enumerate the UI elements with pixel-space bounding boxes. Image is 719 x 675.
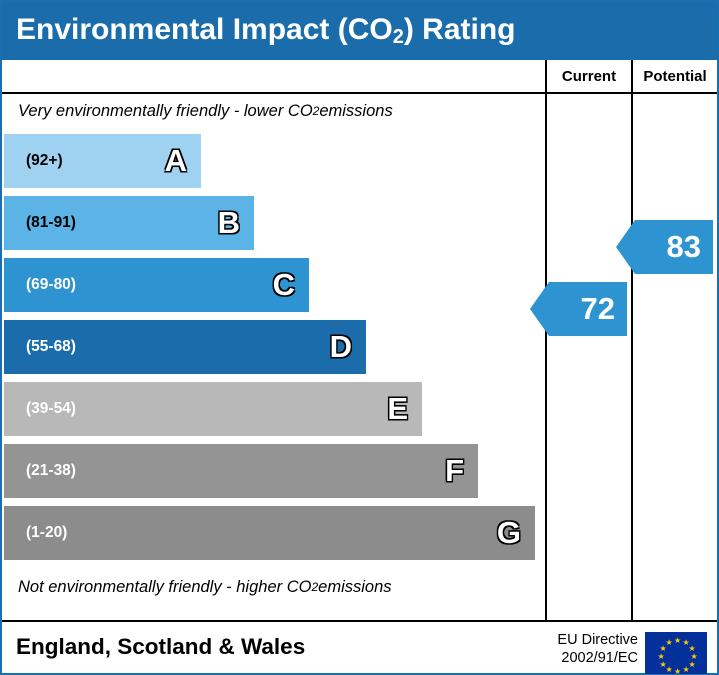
band-range-e: (39-54) bbox=[4, 400, 76, 418]
chart-title-bar: Environmental Impact (CO2) Rating bbox=[2, 2, 717, 60]
caption-top-pre: Very environmentally friendly - lower CO bbox=[18, 102, 313, 121]
band-row-f: (21-38) F bbox=[2, 440, 545, 502]
band-letter-g: G bbox=[497, 515, 521, 551]
caption-bottom-subscript: 2 bbox=[311, 580, 318, 594]
footer-region-label: England, Scotland & Wales bbox=[16, 634, 305, 660]
current-marker-arrow-icon bbox=[530, 282, 549, 336]
caption-top-subscript: 2 bbox=[313, 104, 320, 118]
band-bar-e: (39-54) E bbox=[4, 382, 422, 436]
band-letter-c: C bbox=[273, 267, 295, 303]
caption-top: Very environmentally friendly - lower CO… bbox=[2, 96, 545, 126]
band-range-g: (1-20) bbox=[4, 524, 67, 542]
band-row-c: (69-80) C bbox=[2, 254, 545, 316]
potential-marker-arrow-icon bbox=[616, 220, 635, 274]
band-row-e: (39-54) E bbox=[2, 378, 545, 440]
band-letter-e: E bbox=[387, 391, 408, 427]
potential-rating-value: 83 bbox=[667, 229, 701, 265]
footer-directive-line1: EU Directive bbox=[518, 631, 638, 649]
band-bar-c: (69-80) C bbox=[4, 258, 309, 312]
caption-bottom: Not environmentally friendly - higher CO… bbox=[2, 572, 545, 602]
band-letter-d: D bbox=[330, 329, 352, 365]
page-title: Environmental Impact (CO2) Rating bbox=[2, 13, 516, 49]
column-header-potential: Potential bbox=[631, 60, 717, 92]
caption-top-post: emissions bbox=[319, 102, 392, 121]
chart-footer: England, Scotland & Wales EU Directive 2… bbox=[2, 620, 717, 673]
footer-eu-directive: EU Directive 2002/91/EC bbox=[518, 631, 638, 667]
potential-rating-marker: 83 bbox=[635, 220, 713, 274]
eu-flag-icon: ★ ★ ★ ★ ★ ★ ★ ★ ★ ★ ★ ★ bbox=[645, 632, 707, 674]
current-rating-marker: 72 bbox=[549, 282, 627, 336]
band-row-b: (81-91) B bbox=[2, 192, 545, 254]
band-bar-f: (21-38) F bbox=[4, 444, 478, 498]
band-bar-b: (81-91) B bbox=[4, 196, 254, 250]
current-rating-value: 72 bbox=[581, 291, 615, 327]
divider-potential-column bbox=[631, 92, 633, 620]
band-row-d: (55-68) D bbox=[2, 316, 545, 378]
band-letter-b: B bbox=[218, 205, 240, 241]
band-range-f: (21-38) bbox=[4, 462, 76, 480]
band-bar-g: (1-20) G bbox=[4, 506, 535, 560]
band-letter-f: F bbox=[445, 453, 464, 489]
band-range-c: (69-80) bbox=[4, 276, 76, 294]
band-bar-a: (92+) A bbox=[4, 134, 201, 188]
band-range-a: (92+) bbox=[4, 152, 63, 170]
epc-environmental-impact-chart: Environmental Impact (CO2) Rating Curren… bbox=[0, 0, 719, 675]
column-header-current: Current bbox=[545, 60, 631, 92]
rating-bands: (92+) A (81-91) B (69-80) C (55-68) D bbox=[2, 130, 545, 564]
band-row-g: (1-20) G bbox=[2, 502, 545, 564]
band-range-b: (81-91) bbox=[4, 214, 76, 232]
band-letter-a: A bbox=[165, 143, 187, 179]
title-tail: ) Rating bbox=[404, 13, 516, 46]
caption-bottom-post: emissions bbox=[318, 578, 391, 597]
band-range-d: (55-68) bbox=[4, 338, 76, 356]
footer-directive-line2: 2002/91/EC bbox=[518, 649, 638, 667]
title-main: Environmental Impact (CO bbox=[16, 13, 393, 46]
divider-current-column bbox=[545, 92, 547, 620]
title-subscript: 2 bbox=[393, 26, 404, 48]
band-row-a: (92+) A bbox=[2, 130, 545, 192]
caption-bottom-pre: Not environmentally friendly - higher CO bbox=[18, 578, 311, 597]
column-header-row: Current Potential bbox=[2, 60, 717, 94]
band-bar-d: (55-68) D bbox=[4, 320, 366, 374]
